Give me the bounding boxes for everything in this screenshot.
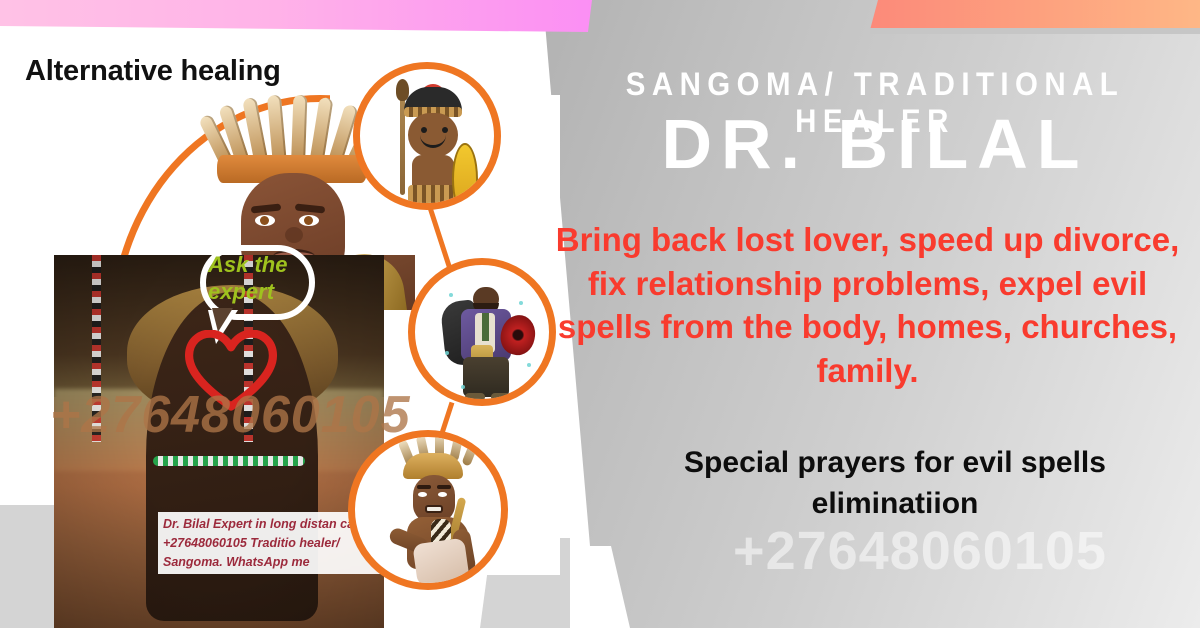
poster-canvas: Alternative healing bbox=[0, 0, 1200, 628]
circle-image-zulu-warrior bbox=[353, 62, 501, 210]
top-orange-strip bbox=[870, 0, 1200, 30]
healer-name: DR. BILAL bbox=[565, 108, 1185, 182]
photo-phone-watermark: +27648060105 bbox=[50, 385, 450, 445]
phone-watermark: +27648060105 bbox=[640, 520, 1200, 582]
services-text: Bring back lost lover, speed up divorce,… bbox=[545, 218, 1190, 392]
top-pink-strip bbox=[0, 0, 592, 32]
circle-image-crouching-healer bbox=[348, 430, 508, 590]
page-title: Alternative healing bbox=[25, 55, 281, 88]
top-right-gray-strip bbox=[870, 28, 1200, 34]
bottom-left-gray-block bbox=[0, 505, 56, 628]
speech-bubble-tail-inner bbox=[212, 308, 233, 332]
prayers-text: Special prayers for evil spells eliminat… bbox=[615, 443, 1175, 524]
speech-bubble-label: Ask the expert bbox=[208, 252, 316, 306]
circle-image-robed-healer bbox=[408, 258, 556, 406]
